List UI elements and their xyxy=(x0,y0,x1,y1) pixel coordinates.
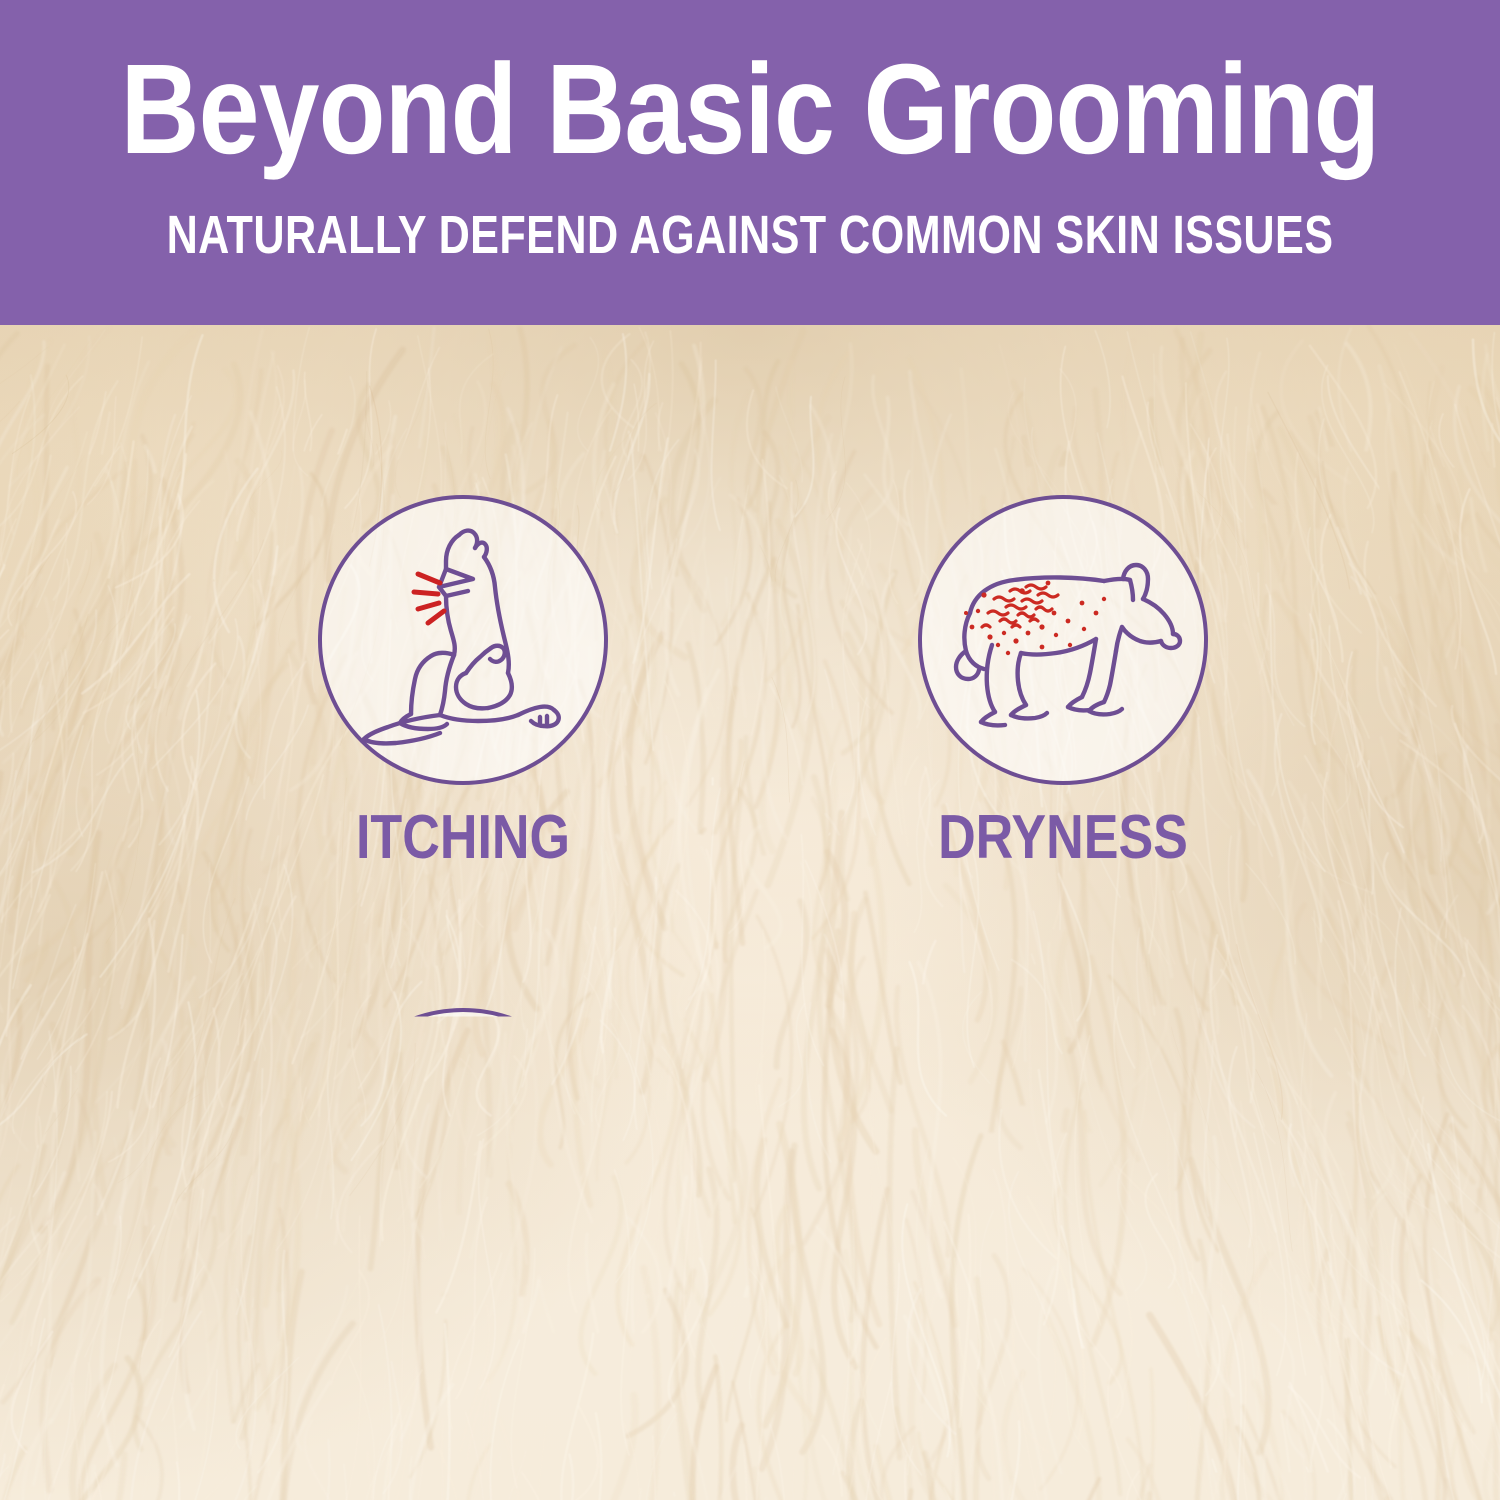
dog-odor-waves-icon xyxy=(918,1008,1208,1298)
header-banner: Beyond Basic Grooming NATURALLY DEFEND A… xyxy=(0,0,1500,325)
odor-wave-lines xyxy=(1062,1066,1113,1106)
page-subtitle: NATURALLY DEFEND AGAINST COMMON SKIN ISS… xyxy=(150,208,1350,262)
dog-flaky-skin-icon xyxy=(918,495,1208,785)
benefit-item-dryness: DRYNESS xyxy=(763,475,1363,955)
odor-circle xyxy=(918,1008,1208,1298)
itching-circle xyxy=(318,495,608,785)
page-title: Beyond Basic Grooming xyxy=(109,46,1392,174)
dog-irritated-patch-icon xyxy=(318,1008,608,1298)
dryness-circle xyxy=(918,495,1208,785)
irritation-circle xyxy=(318,1008,608,1298)
benefit-item-itching: ITCHING xyxy=(163,475,763,955)
benefit-label-itching: ITCHING xyxy=(211,807,715,869)
benefit-label-dryness: DRYNESS xyxy=(811,807,1315,869)
infographic-poster: Beyond Basic Grooming NATURALLY DEFEND A… xyxy=(0,0,1500,1500)
irritation-spot-accent xyxy=(466,1069,477,1071)
benefit-item-irritation: IRRITATION xyxy=(163,988,763,1468)
dog-scratching-icon xyxy=(318,495,608,785)
benefit-label-odor: ODOR xyxy=(811,1320,1315,1382)
benefit-item-odor: ODOR xyxy=(763,988,1363,1468)
benefit-label-irritation: IRRITATION xyxy=(211,1320,715,1382)
itch-lines xyxy=(414,574,444,623)
